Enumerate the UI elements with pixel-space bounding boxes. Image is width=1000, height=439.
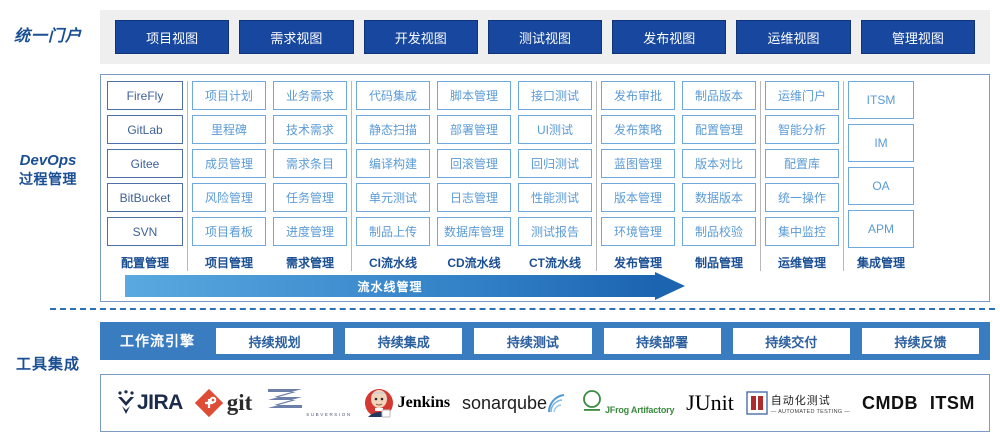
capability-column-title: CD流水线 (437, 254, 511, 271)
capability-item[interactable]: 制品校验 (682, 217, 756, 246)
rail-label-unified-portal: 统一门户 (0, 27, 96, 47)
subversion-logo: SUBVERSION (264, 383, 352, 423)
pipeline-arrow-head (655, 272, 685, 300)
capability-column-title: 集成管理 (848, 254, 914, 271)
capability-item[interactable]: 编译构建 (356, 149, 430, 178)
column-group-4: 发布审批发布策略蓝图管理版本管理环境管理发布管理制品版本配置管理版本对比数据版本… (601, 81, 756, 271)
sonarqube-logo: sonarqube (462, 383, 567, 423)
capability-item[interactable]: 单元测试 (356, 183, 430, 212)
portal-view-button-1[interactable]: 项目视图 (115, 20, 229, 54)
capability-item[interactable]: 环境管理 (601, 217, 675, 246)
capability-item[interactable]: BitBucket (107, 183, 183, 212)
capability-column-项目管理: 项目计划里程碑成员管理风险管理项目看板项目管理 (192, 81, 266, 271)
jira-wordmark: JIRA (137, 391, 183, 415)
capability-item[interactable]: 制品版本 (682, 81, 756, 110)
capability-column-发布管理: 发布审批发布策略蓝图管理版本管理环境管理发布管理 (601, 81, 675, 271)
capability-item[interactable]: APM (848, 210, 914, 248)
capability-item[interactable]: 代码集成 (356, 81, 430, 110)
rail-label-devops-main: DevOps (0, 152, 96, 171)
jfrog-artifactory-logo: JFrog Artifactory (579, 383, 674, 423)
capability-column-title: 配置管理 (107, 254, 183, 271)
capability-column-集成管理: ITSMIMOAAPM集成管理 (848, 81, 914, 271)
subversion-wordmark: SUBVERSION (306, 412, 352, 417)
capability-item[interactable]: 项目计划 (192, 81, 266, 110)
rail-label-devops-process: DevOps 过程管理 (0, 152, 96, 188)
workflow-engine-bar: 工作流引擎 持续规划持续集成持续测试持续部署持续交付持续反馈 (100, 322, 990, 360)
automated-testing-text-block: 自动化测试— AUTOMATED TESTING — (771, 391, 850, 415)
subversion-mark-icon: SUBVERSION (264, 386, 352, 421)
column-group-divider (596, 81, 597, 271)
pipeline-management-arrow: 流水线管理 (125, 275, 685, 297)
junit-wordmark: JUnit (686, 390, 734, 416)
unified-portal-bar: 项目视图需求视图开发视图测试视图发布视图运维视图管理视图 (100, 10, 990, 64)
capability-item[interactable]: 任务管理 (273, 183, 347, 212)
column-spacer (675, 81, 682, 271)
capability-item[interactable]: 回滚管理 (437, 149, 511, 178)
capability-item[interactable]: 部署管理 (437, 115, 511, 144)
column-group-divider (843, 81, 844, 271)
cmdb-logo: CMDB (862, 383, 918, 423)
capability-column-CD流水线: 脚本管理部署管理回滚管理日志管理数据库管理CD流水线 (437, 81, 511, 271)
capability-item[interactable]: 制品上传 (356, 217, 430, 246)
column-group-1: FireFlyGitLabGiteeBitBucketSVN配置管理 (107, 81, 183, 271)
capability-item[interactable]: 智能分析 (765, 115, 839, 144)
capability-item[interactable]: 项目看板 (192, 217, 266, 246)
workflow-stage-6[interactable]: 持续反馈 (862, 328, 979, 354)
capability-item[interactable]: 技术需求 (273, 115, 347, 144)
capability-column-CI流水线: 代码集成静态扫描编译构建单元测试制品上传CI流水线 (356, 81, 430, 271)
capability-item[interactable]: Gitee (107, 149, 183, 178)
capability-column-CT流水线: 接口测试UI测试回归测试性能测试测试报告CT流水线 (518, 81, 592, 271)
workflow-stage-list: 持续规划持续集成持续测试持续部署持续交付持续反馈 (210, 328, 985, 354)
portal-view-button-2[interactable]: 需求视图 (239, 20, 353, 54)
sonarqube-wordmark: sonarqube (462, 393, 547, 414)
capability-item[interactable]: 日志管理 (437, 183, 511, 212)
capability-item[interactable]: IM (848, 124, 914, 162)
capability-item[interactable]: OA (848, 167, 914, 205)
jenkins-wordmark: Jenkins (398, 394, 450, 412)
devops-process-panel: FireFlyGitLabGiteeBitBucketSVN配置管理项目计划里程… (100, 74, 990, 302)
capability-item[interactable]: 风险管理 (192, 183, 266, 212)
automated-testing-mark-icon (746, 391, 768, 415)
capability-column-制品管理: 制品版本配置管理版本对比数据版本制品校验制品管理 (682, 81, 756, 271)
git-wordmark: git (227, 390, 253, 416)
workflow-engine-label: 工作流引擎 (105, 331, 210, 351)
capability-item[interactable]: 发布策略 (601, 115, 675, 144)
rail-label-tool-integration: 工具集成 (0, 356, 96, 375)
tool-logo-bar: JIRAgitSUBVERSIONJenkinssonarqubeJFrog A… (100, 374, 990, 432)
capability-item[interactable]: 发布审批 (601, 81, 675, 110)
capability-item[interactable]: 集中监控 (765, 217, 839, 246)
capability-item[interactable]: 业务需求 (273, 81, 347, 110)
capability-column-title: 制品管理 (682, 254, 756, 271)
git-diamond-icon (195, 389, 223, 417)
capability-item[interactable]: 测试报告 (518, 217, 592, 246)
capability-item[interactable]: 蓝图管理 (601, 149, 675, 178)
jenkins-butler-icon (364, 387, 394, 419)
automated-testing-wordmark-en: — AUTOMATED TESTING — (771, 409, 850, 415)
capability-column-groups: FireFlyGitLabGiteeBitBucketSVN配置管理项目计划里程… (107, 81, 983, 271)
capability-item[interactable]: 配置库 (765, 149, 839, 178)
capability-column-配置管理: FireFlyGitLabGiteeBitBucketSVN配置管理 (107, 81, 183, 271)
itsm-wordmark: ITSM (930, 393, 975, 414)
capability-column-运维管理: 运维门户智能分析配置库统一操作集中监控运维管理 (765, 81, 839, 271)
capability-item[interactable]: 版本管理 (601, 183, 675, 212)
capability-item[interactable]: 需求条目 (273, 149, 347, 178)
devops-platform-architecture-diagram: 统一门户 DevOps 过程管理 工具集成 项目视图需求视图开发视图测试视图发布… (0, 0, 1000, 439)
column-group-2: 项目计划里程碑成员管理风险管理项目看板项目管理业务需求技术需求需求条目任务管理进… (192, 81, 347, 271)
capability-item[interactable]: 数据版本 (682, 183, 756, 212)
jfrog-mark-icon: JFrog Artifactory (579, 389, 674, 418)
capability-item[interactable]: 性能测试 (518, 183, 592, 212)
capability-item[interactable]: 数据库管理 (437, 217, 511, 246)
capability-column-需求管理: 业务需求技术需求需求条目任务管理进度管理需求管理 (273, 81, 347, 271)
capability-item[interactable]: 回归测试 (518, 149, 592, 178)
itsm-logo: ITSM (930, 383, 975, 423)
git-logo: git (195, 383, 253, 423)
capability-item[interactable]: 里程碑 (192, 115, 266, 144)
capability-item[interactable]: 统一操作 (765, 183, 839, 212)
capability-column-title: 运维管理 (765, 254, 839, 271)
automated-testing-logo: 自动化测试— AUTOMATED TESTING — (746, 383, 850, 423)
junit-logo: JUnit (686, 383, 734, 423)
column-spacer (266, 81, 273, 271)
jira-logo: JIRA (115, 383, 183, 423)
capability-column-title: 需求管理 (273, 254, 347, 271)
jfrog-wordmark: JFrog Artifactory (605, 405, 674, 415)
portal-view-button-6[interactable]: 运维视图 (736, 20, 850, 54)
capability-item[interactable]: 运维门户 (765, 81, 839, 110)
cmdb-wordmark: CMDB (862, 393, 918, 414)
capability-item[interactable]: 脚本管理 (437, 81, 511, 110)
workflow-stage-4[interactable]: 持续部署 (604, 328, 721, 354)
workflow-stage-1[interactable]: 持续规划 (216, 328, 333, 354)
column-group-divider (760, 81, 761, 271)
capability-item[interactable]: 接口测试 (518, 81, 592, 110)
capability-item[interactable]: 版本对比 (682, 149, 756, 178)
capability-column-title: 项目管理 (192, 254, 266, 271)
capability-column-title: CI流水线 (356, 254, 430, 271)
capability-item[interactable]: SVN (107, 217, 183, 246)
column-group-divider (187, 81, 188, 271)
capability-item[interactable]: 静态扫描 (356, 115, 430, 144)
capability-item[interactable]: ITSM (848, 81, 914, 119)
capability-item[interactable]: 配置管理 (682, 115, 756, 144)
column-spacer (430, 81, 437, 271)
capability-item[interactable]: 进度管理 (273, 217, 347, 246)
portal-view-button-4[interactable]: 测试视图 (488, 20, 602, 54)
column-group-6: ITSMIMOAAPM集成管理 (848, 81, 914, 271)
section-divider-dashed (50, 308, 995, 310)
jira-mark-icon (115, 390, 137, 416)
workflow-stage-5[interactable]: 持续交付 (733, 328, 850, 354)
rail-label-devops-sub: 过程管理 (0, 171, 96, 189)
automated-testing-wordmark-cn: 自动化测试 (771, 395, 831, 407)
column-spacer (511, 81, 518, 271)
capability-column-title: CT流水线 (518, 254, 592, 271)
portal-view-button-3[interactable]: 开发视图 (364, 20, 478, 54)
capability-item[interactable]: GitLab (107, 115, 183, 144)
capability-item[interactable]: FireFly (107, 81, 183, 110)
workflow-stage-2[interactable]: 持续集成 (345, 328, 462, 354)
jenkins-logo: Jenkins (364, 383, 450, 423)
portal-view-button-5[interactable]: 发布视图 (612, 20, 726, 54)
pipeline-arrow-label: 流水线管理 (357, 278, 422, 295)
pipeline-arrow-body: 流水线管理 (125, 275, 655, 297)
portal-view-button-7[interactable]: 管理视图 (861, 20, 975, 54)
column-group-3: 代码集成静态扫描编译构建单元测试制品上传CI流水线脚本管理部署管理回滚管理日志管… (356, 81, 592, 271)
capability-item[interactable]: UI测试 (518, 115, 592, 144)
sonarqube-arc-icon (547, 392, 567, 414)
workflow-stage-3[interactable]: 持续测试 (474, 328, 591, 354)
capability-column-title: 发布管理 (601, 254, 675, 271)
capability-item[interactable]: 成员管理 (192, 149, 266, 178)
column-group-divider (351, 81, 352, 271)
column-group-5: 运维门户智能分析配置库统一操作集中监控运维管理 (765, 81, 839, 271)
